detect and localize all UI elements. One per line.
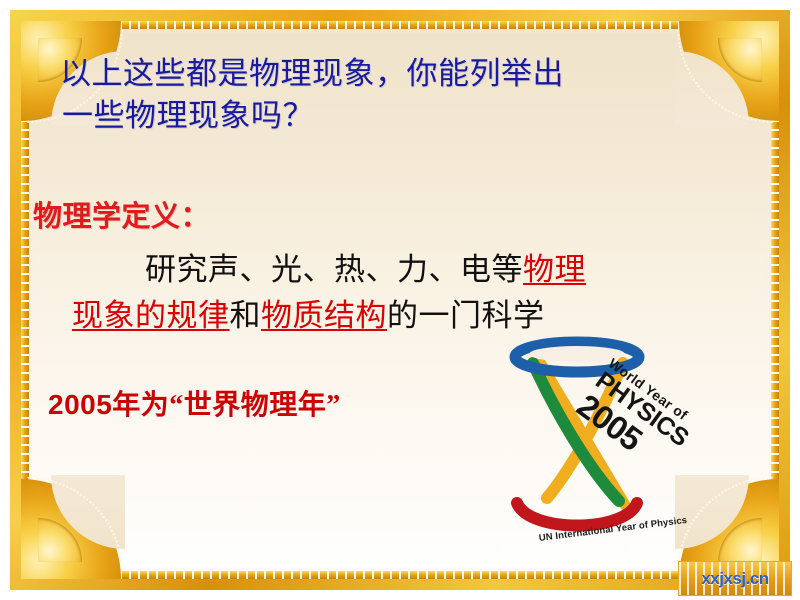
- definition-line-1: 研究声、光、热、力、电等物理: [145, 250, 586, 290]
- definition-line-2-highlight-1: 现象的规律: [72, 298, 230, 333]
- definition-line-2-suffix: 的一门科学: [387, 298, 545, 333]
- definition-line-2-conjunction: 和: [230, 298, 262, 333]
- site-watermark: xxjxsj.cn: [678, 561, 792, 596]
- year-note-number: 2005: [48, 389, 112, 420]
- world-year-of-physics-logo: World Year of PHYSICS 2005 UN Internatio…: [495, 335, 755, 550]
- corner-ornament-bottom-left: [21, 471, 129, 579]
- definition-heading: 物理学定义：: [33, 193, 210, 235]
- year-note-text: 年为“世界物理年”: [112, 390, 341, 421]
- definition-line-2: 现象的规律和物质结构的一门科学: [72, 296, 545, 336]
- slide-canvas: 以上这些都是物理现象，你能列举出 一些物理现象吗？ 物理学定义： 研究声、光、热…: [0, 0, 800, 600]
- corner-ornament-top-right: [671, 21, 779, 129]
- definition-line-1-highlight: 物理: [523, 252, 586, 287]
- definition-line-2-highlight-2: 物质结构: [261, 298, 387, 333]
- border-band-bottom: [21, 571, 779, 579]
- question-line-1: 以上这些都是物理现象，你能列举出: [60, 54, 564, 94]
- question-line-2: 一些物理现象吗？: [62, 96, 314, 136]
- definition-line-1-plain: 研究声、光、热、力、电等: [145, 252, 523, 287]
- site-watermark-text: xxjxsj.cn: [701, 569, 768, 589]
- border-band-top: [21, 21, 779, 29]
- year-note: 2005年为“世界物理年”: [48, 383, 341, 423]
